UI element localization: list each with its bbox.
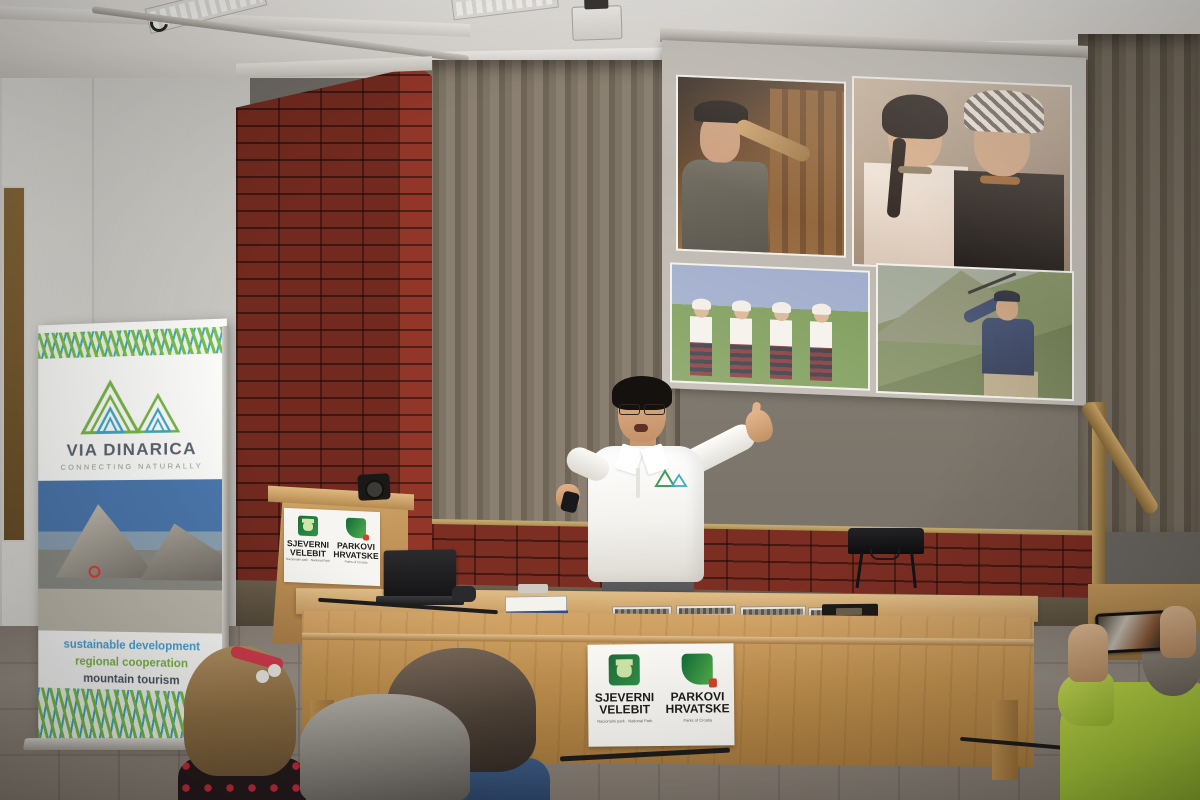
presenter-shirt-placket (636, 468, 640, 498)
projection-screen (662, 40, 1086, 406)
sign-subtitle-parkovi-hrvatske: Parks of Croatia (345, 559, 368, 564)
sign-title-sjeverni-velebit: SJEVERNI VELEBIT (588, 691, 661, 717)
sign-subtitle-sjeverni-velebit: Nacionalni park · National Park (286, 556, 330, 562)
sign-left-column: SJEVERNI VELEBIT Nacionalni park · Natio… (284, 508, 332, 584)
sign-subtitle-parkovi-hrvatske: Parks of Croatia (683, 717, 712, 722)
bear-paw-icon (298, 515, 318, 536)
slide-photo-four-women (670, 262, 870, 390)
glasses-icon (618, 404, 666, 413)
lectern-sign: SJEVERNI VELEBIT Nacionalni park · Natio… (284, 508, 380, 586)
shirt-via-dinarica-logo-icon (654, 468, 688, 488)
banner-top-pattern (38, 327, 227, 359)
equipment-bag (848, 528, 924, 554)
banner-logo-subtitle: CONNECTING NATURALLY (38, 461, 227, 472)
green-leaf-icon (346, 517, 366, 538)
audience-girl-with-headband (176, 646, 306, 800)
presentation-clicker (560, 490, 580, 513)
clipboard (505, 595, 567, 612)
map-marker-icon (89, 566, 101, 578)
sign-right-column: PARKOVI HRVATSKE Parks of Croatia (660, 643, 734, 746)
presentation-hall-photo: VIA DINARICA CONNECTING NATURALLY sustai… (0, 0, 1200, 800)
green-leaf-icon (682, 654, 713, 685)
sign-title-parkovi-hrvatske: PARKOVI HRVATSKE (661, 690, 734, 716)
audience-grey-haired-attendee (300, 694, 470, 800)
sign-left-column: SJEVERNI VELEBIT Nacionalni park · Natio… (587, 644, 661, 747)
slide-photo-gusle-player (676, 75, 846, 258)
ceiling-projector-icon (571, 5, 622, 41)
slide-folk-culture (662, 40, 1086, 406)
power-strip (518, 584, 548, 593)
banner-mountain-photo (38, 479, 227, 634)
mouse (452, 586, 476, 602)
sign-right-column: PARKOVI HRVATSKE Parks of Croatia (332, 510, 380, 586)
audience-person-filming (1052, 586, 1200, 800)
sign-title-sjeverni-velebit: SJEVERNI VELEBIT (284, 539, 332, 559)
table-sign: SJEVERNI VELEBIT Nacionalni park · Natio… (587, 643, 734, 747)
presenter (560, 380, 770, 620)
wall-board (2, 186, 26, 542)
sign-title-parkovi-hrvatske: PARKOVI HRVATSKE (332, 541, 380, 561)
via-dinarica-logo-icon (77, 370, 188, 437)
bear-paw-icon (609, 654, 640, 685)
slide-photo-two-women (852, 76, 1072, 275)
slide-photo-shepherd (876, 263, 1074, 401)
banner-logo-title: VIA DINARICA (38, 438, 227, 461)
laptop-screen (384, 549, 456, 598)
camera-icon (357, 473, 390, 501)
sign-subtitle-sjeverni-velebit: Nacionalni park · National Park (597, 718, 652, 724)
presenter-mouth (634, 424, 648, 432)
